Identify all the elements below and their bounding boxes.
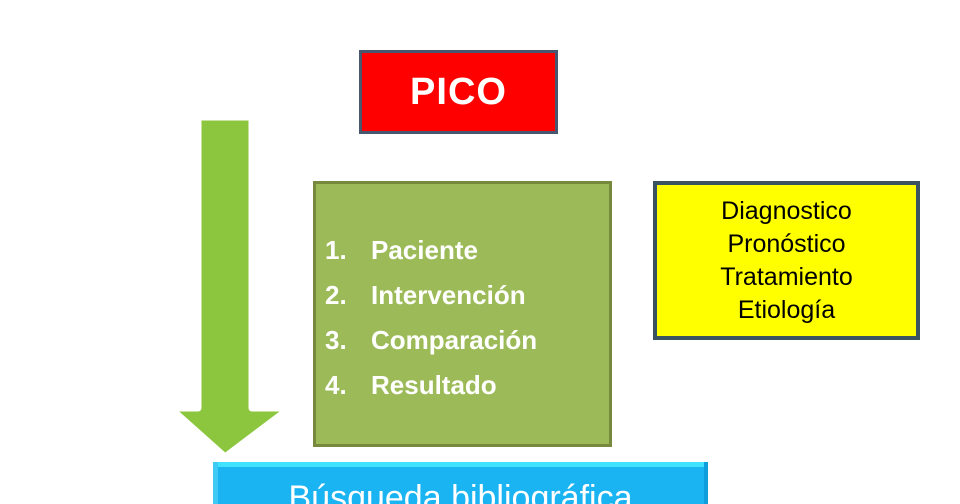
list-item-label: Paciente (371, 228, 605, 273)
question-type-line: Diagnostico (721, 195, 852, 228)
list-item-number: 1. (325, 228, 371, 273)
list-item: 3. Comparación (325, 318, 605, 363)
list-item: 2. Intervención (325, 273, 605, 318)
list-item-number: 4. (325, 363, 371, 408)
pico-components-box: 1. Paciente 2. Intervención 3. Comparaci… (313, 181, 612, 447)
list-item-number: 3. (325, 318, 371, 363)
list-item: 4. Resultado (325, 363, 605, 408)
pico-label: PICO (410, 73, 507, 111)
blue-box-top-highlight (213, 462, 708, 467)
pico-title-box: PICO (359, 50, 558, 134)
list-item-number: 2. (325, 273, 371, 318)
down-arrow-icon (166, 113, 294, 461)
list-item: 1. Paciente (325, 228, 605, 273)
list-item-label: Resultado (371, 363, 605, 408)
question-type-line: Etiología (738, 294, 835, 327)
search-result-box: Búsqueda bibliográfica (213, 462, 708, 504)
down-arrow-svg (166, 113, 294, 461)
list-item-label: Comparación (371, 318, 605, 363)
question-type-line: Tratamiento (720, 261, 852, 294)
down-arrow-shape (170, 117, 290, 457)
question-type-line: Pronóstico (727, 228, 845, 261)
pico-components-list: 1. Paciente 2. Intervención 3. Comparaci… (325, 228, 605, 408)
list-item-label: Intervención (371, 273, 605, 318)
search-result-label: Búsqueda bibliográfica (213, 478, 708, 504)
diagram-canvas: PICO 1. Paciente 2. Intervención 3. Comp… (0, 0, 960, 504)
question-types-box: Diagnostico Pronóstico Tratamiento Etiol… (653, 181, 920, 340)
